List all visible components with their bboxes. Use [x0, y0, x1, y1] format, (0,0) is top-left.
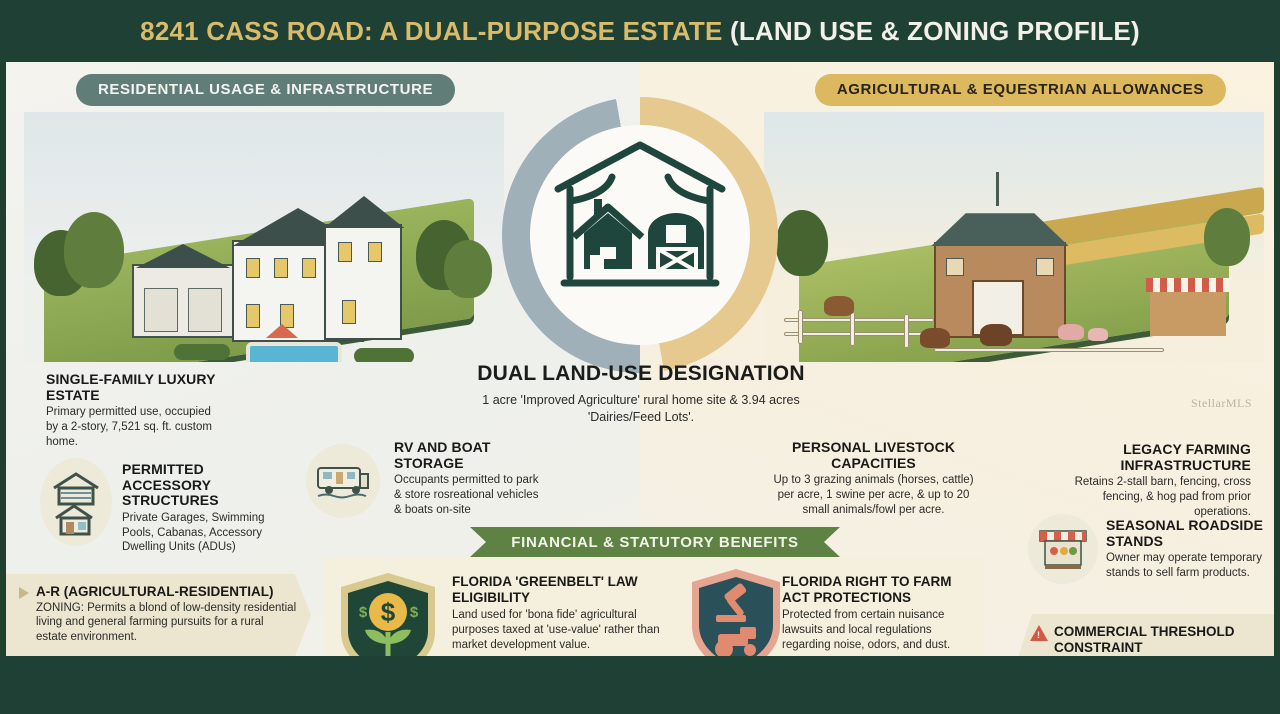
window [302, 258, 316, 278]
header-bar: 8241 CASS ROAD: A DUAL-PURPOSE ESTATE (L… [0, 0, 1280, 62]
callout-single-family-body: Primary permitted use, occupied by a 2-s… [46, 405, 226, 449]
roadside-stand-body [1150, 292, 1226, 336]
window [274, 258, 288, 278]
center-title: DUAL LAND-USE DESIGNATION [476, 362, 806, 386]
garage-door [188, 288, 222, 332]
fence-rail [784, 332, 934, 336]
svg-text:$: $ [410, 604, 419, 621]
pig-figure [1058, 324, 1084, 340]
fence-post [798, 310, 803, 344]
callout-rv-body: Occupants permitted to park & store rosr… [394, 473, 544, 517]
infographic-body: DUAL LAND-USE DESIGNATION 1 acre 'Improv… [6, 62, 1274, 656]
callout-roadside-stands: SEASONAL ROADSIDE STANDS Owner may opera… [1106, 518, 1271, 581]
ribbon-commercial-threshold: COMMERCIAL THRESHOLD CONSTRAINT Commerci… [1016, 614, 1274, 656]
callout-single-family-title: SINGLE-FAMILY LUXURY ESTATE [46, 372, 226, 403]
market-stand-icon [1028, 514, 1098, 584]
rv-icon [306, 444, 380, 518]
window [246, 258, 260, 278]
window [342, 300, 356, 324]
ribbon-hoa: NO HOA OR CDD RESTRICTIONS. Not subject … [6, 648, 296, 656]
center-body: 1 acre 'Improved Agriculture' rural home… [476, 392, 806, 426]
callout-livestock-title: PERSONAL LIVESTOCK CAPACITIES [766, 440, 981, 471]
umbrella-icon [266, 324, 298, 338]
callout-legacy-body: Retains 2-stall barn, fencing, cross fen… [1046, 475, 1251, 519]
callout-roadside-body: Owner may operate temporary stands to se… [1106, 551, 1271, 580]
watermark: StellarMLS [1191, 396, 1252, 411]
barn-window [946, 258, 964, 276]
roadside-stand-awning [1146, 278, 1230, 292]
triangle-bullet-icon [19, 587, 29, 599]
ribbon-zoning: A-R (AGRICULTURAL-RESIDENTIAL) ZONING: P… [6, 574, 311, 656]
callout-legacy-title: LEGACY FARMING INFRASTRUCTURE [1046, 442, 1251, 473]
ribbon-commercial-title: COMMERCIAL THRESHOLD CONSTRAINT [1054, 624, 1270, 655]
right-to-farm-body: Protected from certain nuisance lawsuits… [782, 608, 962, 653]
garage-house-icon [40, 458, 112, 546]
window [338, 242, 352, 262]
ribbon-zoning-title: A-R (AGRICULTURAL-RESIDENTIAL) [36, 584, 297, 600]
warning-triangle-icon [1030, 625, 1048, 641]
tree-icon [444, 240, 492, 298]
callout-rv-boat-storage: RV AND BOAT STORAGE Occupants permitted … [394, 440, 544, 518]
page-title: 8241 CASS ROAD: A DUAL-PURPOSE ESTATE (L… [140, 16, 1140, 47]
greenbelt-body: Land used for 'bona fide' agricultural p… [452, 608, 667, 653]
right-to-farm-title: FLORIDA RIGHT TO FARM ACT PROTECTIONS [782, 574, 962, 605]
window [246, 304, 260, 328]
house-wing-body [324, 224, 402, 340]
callout-single-family: SINGLE-FAMILY LUXURY ESTATE Primary perm… [46, 372, 226, 450]
financial-greenbelt: FLORIDA 'GREENBELT' LAW ELIGIBILITY Land… [452, 574, 667, 656]
money-shield-icon: $ $ $ [336, 570, 440, 656]
ribbon-zoning-body: ZONING: Permits a blond of low-density r… [36, 601, 297, 646]
svg-text:$: $ [381, 597, 396, 627]
weathervane-icon [996, 172, 999, 206]
callout-accessory-structures: PERMITTED ACCESSORY STRUCTURES Private G… [122, 462, 282, 555]
house-barn-icon [550, 137, 730, 302]
tree-icon [1204, 208, 1250, 266]
footer-bar [0, 656, 1280, 714]
tree-icon [776, 210, 828, 276]
hedge [174, 344, 230, 360]
callout-roadside-title: SEASONAL ROADSIDE STANDS [1106, 518, 1271, 549]
garage-door [144, 288, 178, 332]
callout-accessory-title: PERMITTED ACCESSORY STRUCTURES [122, 462, 282, 509]
fence-rail [784, 318, 934, 322]
horse-figure [824, 296, 854, 316]
fence-post [850, 312, 855, 346]
horse-figure [980, 324, 1012, 346]
section-pill-residential[interactable]: RESIDENTIAL USAGE & INFRASTRUCTURE [76, 74, 455, 106]
residential-illustration [24, 112, 504, 362]
swimming-pool [246, 342, 342, 362]
greenbelt-title: FLORIDA 'GREENBELT' LAW ELIGIBILITY [452, 574, 667, 605]
callout-legacy-infrastructure: LEGACY FARMING INFRASTRUCTURE Retains 2-… [1046, 442, 1251, 520]
pig-figure [1088, 328, 1108, 341]
fence-post [904, 314, 909, 348]
dual-land-use-caption: DUAL LAND-USE DESIGNATION 1 acre 'Improv… [476, 362, 806, 426]
gavel-tractor-shield-icon [688, 566, 784, 656]
financial-right-to-farm: FLORIDA RIGHT TO FARM ACT PROTECTIONS Pr… [782, 574, 962, 653]
horse-figure [920, 328, 950, 348]
page-title-secondary: (LAND USE & ZONING PROFILE) [730, 16, 1140, 46]
page-title-primary: 8241 CASS ROAD: A DUAL-PURPOSE ESTATE [140, 16, 722, 46]
callout-rv-title: RV AND BOAT STORAGE [394, 440, 544, 471]
dual-land-use-emblem [502, 97, 778, 373]
hedge [354, 348, 414, 362]
callout-accessory-body: Private Garages, Swimming Pools, Cabanas… [122, 511, 282, 555]
svg-text:$: $ [359, 604, 368, 621]
tree-icon [64, 212, 124, 288]
fence-rail [934, 348, 1164, 352]
agricultural-illustration [764, 112, 1264, 362]
callout-livestock-capacities: PERSONAL LIVESTOCK CAPACITIES Up to 3 gr… [766, 440, 981, 518]
callout-livestock-body: Up to 3 grazing animals (horses, cattle)… [766, 473, 981, 517]
section-pill-agricultural[interactable]: AGRICULTURAL & EQUESTRIAN ALLOWANCES [815, 74, 1226, 106]
infographic-canvas: 8241 CASS ROAD: A DUAL-PURPOSE ESTATE (L… [0, 0, 1280, 714]
barn-window [1036, 258, 1054, 276]
financial-banner: FINANCIAL & STATUTORY BENEFITS [470, 527, 840, 557]
window [368, 242, 382, 262]
